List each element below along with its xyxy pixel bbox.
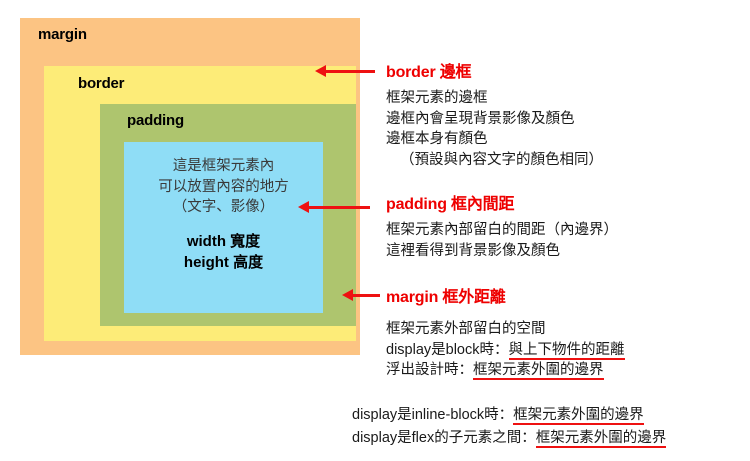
padding-box-label: padding [127, 112, 184, 129]
padding-annotation-body: 框架元素內部留白的間距（內邊界） 這裡看得到背景影像及顏色 [386, 220, 618, 261]
margin-annotation: margin 框外距離 框架元素外部留白的空間 display是block時：與… [386, 283, 625, 381]
margin-box-label: margin [38, 26, 87, 43]
box-model-diagram-canvas: margin border padding 這是框架元素內 可以放置內容的地方 … [0, 0, 750, 461]
annotation-line: display是block時：與上下物件的距離 [386, 340, 625, 361]
annotation-line: 浮出設計時：框架元素外圍的邊界 [386, 360, 625, 381]
annotation-underlined-text: 框架元素外圍的邊界 [536, 430, 667, 448]
annotation-text: display是inline-block時： [352, 407, 513, 423]
padding-annotation: padding 框內間距 框架元素內部留白的間距（內邊界） 這裡看得到背景影像及… [386, 190, 618, 261]
annotation-line: 框架元素外部留白的空間 [386, 319, 625, 340]
content-line: 可以放置內容的地方 [124, 177, 323, 198]
margin-annotation-title: margin 框外距離 [386, 283, 625, 307]
border-annotation-body: 框架元素的邊框 邊框內會呈現背景影像及顏色 邊框本身有顏色 （預設與內容文字的顏… [386, 88, 603, 170]
border-annotation-title: border 邊框 [386, 58, 603, 82]
margin-box: margin border padding 這是框架元素內 可以放置內容的地方 … [20, 18, 360, 355]
annotation-text: display是block時： [386, 342, 509, 358]
border-callout-arrow-icon [325, 70, 375, 73]
padding-annotation-title: padding 框內間距 [386, 190, 618, 214]
content-width-label: width 寬度 [124, 231, 323, 252]
margin-annotation-body: 框架元素外部留白的空間 display是block時：與上下物件的距離 浮出設計… [386, 319, 625, 381]
annotation-underlined-text: 與上下物件的距離 [509, 342, 625, 360]
annotation-line: display是inline-block時：框架元素外圍的邊界 [352, 404, 666, 427]
content-line: （文字、影像） [124, 197, 323, 218]
content-height-label: height 高度 [124, 252, 323, 273]
border-box: border padding 這是框架元素內 可以放置內容的地方 （文字、影像）… [44, 66, 356, 341]
annotation-line: 邊框本身有顏色 [386, 129, 603, 150]
padding-box: padding 這是框架元素內 可以放置內容的地方 （文字、影像） width … [100, 104, 356, 326]
border-annotation: border 邊框 框架元素的邊框 邊框內會呈現背景影像及顏色 邊框本身有顏色 … [386, 58, 603, 170]
annotation-line: 框架元素的邊框 [386, 88, 603, 109]
content-box-text: 這是框架元素內 可以放置內容的地方 （文字、影像） width 寬度 heigh… [124, 156, 323, 273]
annotation-line: （預設與內容文字的顏色相同） [386, 150, 603, 171]
annotation-text: 浮出設計時： [386, 362, 473, 378]
annotation-underlined-text: 框架元素外圍的邊界 [513, 407, 644, 425]
content-line: 這是框架元素內 [124, 156, 323, 177]
annotation-line: 這裡看得到背景影像及顏色 [386, 241, 618, 262]
annotation-text: display是flex的子元素之間： [352, 430, 536, 446]
border-box-label: border [78, 75, 124, 92]
padding-callout-arrow-icon [308, 206, 370, 209]
annotation-underlined-text: 框架元素外圍的邊界 [473, 362, 604, 380]
annotation-line: 邊框內會呈現背景影像及顏色 [386, 109, 603, 130]
margin-callout-arrow-icon [352, 294, 380, 297]
margin-annotation-extra: display是inline-block時：框架元素外圍的邊界 display是… [352, 404, 666, 450]
annotation-line: display是flex的子元素之間：框架元素外圍的邊界 [352, 427, 666, 450]
spacer [124, 218, 323, 231]
content-box: 這是框架元素內 可以放置內容的地方 （文字、影像） width 寬度 heigh… [124, 142, 323, 313]
annotation-line: 框架元素內部留白的間距（內邊界） [386, 220, 618, 241]
